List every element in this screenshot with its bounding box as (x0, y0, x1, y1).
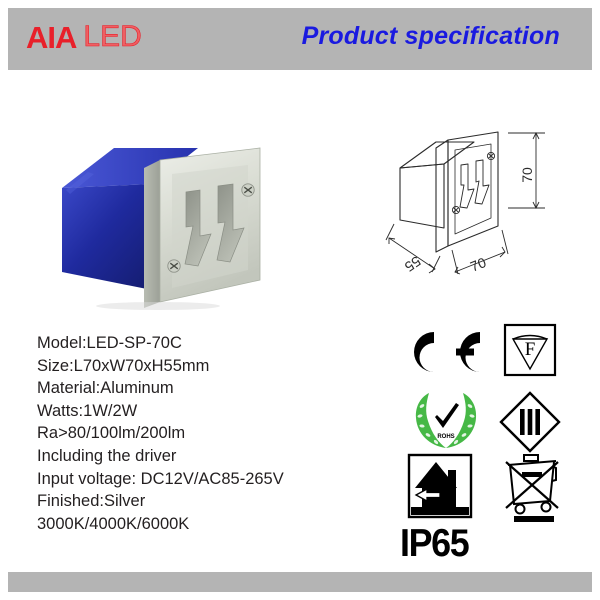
product-photo (48, 140, 278, 310)
spec-line-material: Material:Aluminum (37, 377, 367, 400)
class-iii-mark-icon (498, 390, 562, 454)
brand-logo: AIA LED (26, 20, 142, 54)
dimension-label-height: 70 (519, 167, 535, 183)
spec-line-cct: 3000K/4000K/6000K (37, 513, 367, 536)
logo-text-aia: AIA (26, 22, 76, 53)
spec-line-ra: Ra>80/100lm/200lm (37, 422, 367, 445)
spec-line-model: Model:LED-SP-70C (37, 332, 367, 355)
technical-drawing: 70 70 55 (378, 128, 578, 293)
rohs-label: ROHS (437, 434, 454, 440)
spec-line-finish: Finished:Silver (37, 490, 367, 513)
page-title: Product specification (302, 22, 560, 51)
spec-line-watts: Watts:1W/2W (37, 400, 367, 423)
spec-line-voltage: Input voltage: DC12V/AC85-265V (37, 468, 367, 491)
spec-line-driver: Including the driver (37, 445, 367, 468)
ce-mark-icon (400, 328, 486, 376)
dimension-label-width: 70 (468, 254, 489, 275)
weee-mark-icon (496, 448, 568, 526)
spec-line-size: Size:L70xW70xH55mm (37, 355, 367, 378)
recessed-mount-mark-icon (406, 452, 474, 520)
logo-text-led: LED (83, 22, 141, 52)
f-mark-letter: F (525, 339, 536, 360)
f-mark-icon: F (502, 322, 558, 378)
rohs-mark-icon: ROHS (410, 390, 482, 452)
ip-rating-label: IP65 (400, 524, 468, 563)
dimension-label-depth: 55 (402, 253, 424, 275)
specification-list: Model:LED-SP-70C Size:L70xW70xH55mm Mate… (37, 332, 367, 535)
certification-marks: F (396, 320, 576, 570)
footer-band (8, 572, 592, 592)
